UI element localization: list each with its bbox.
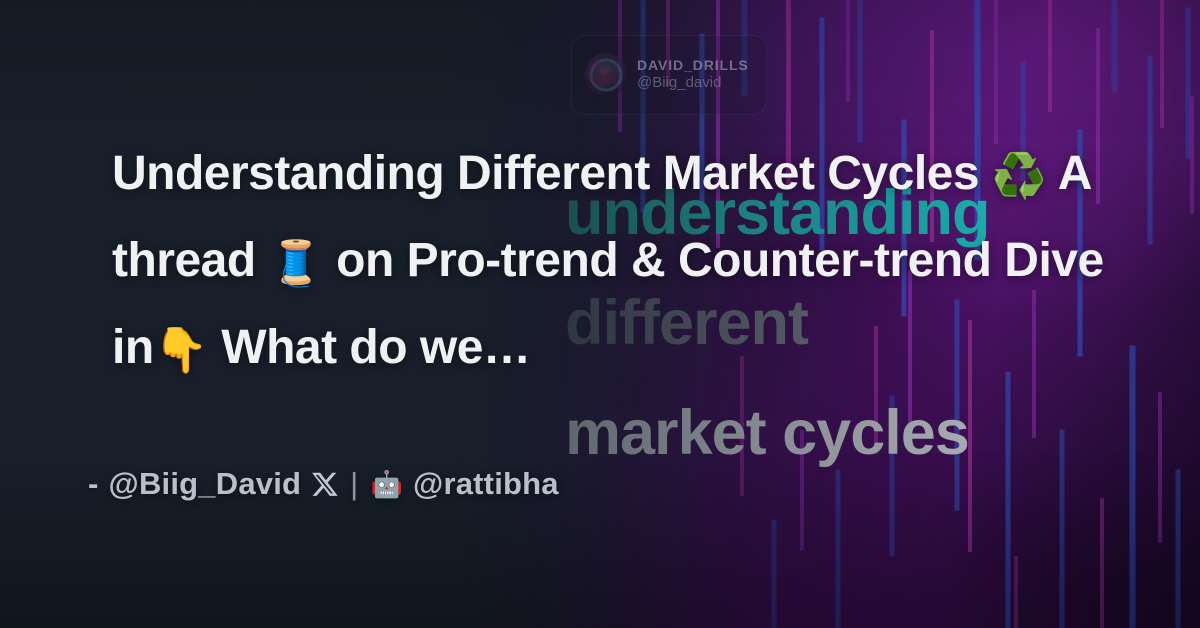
profile-chip-text: DAVID_DRILLS @Biig_david <box>637 58 749 91</box>
credit-service-handle[interactable]: @rattibha <box>413 466 559 502</box>
social-share-card: understanding different market cycles <box>0 0 1200 628</box>
avatar <box>584 53 628 97</box>
profile-handle: @Biig_david <box>637 75 749 92</box>
headline: Understanding Different Market Cycles ♻️… <box>112 132 1122 393</box>
headline-part-1: Understanding Different Market Cycles <box>112 147 992 200</box>
credit-author-handle[interactable]: @Biig_David <box>109 466 302 502</box>
credit-line: - @Biig_David | 🤖 @rattibha <box>88 466 559 502</box>
recycle-emoji: ♻️ <box>992 152 1047 201</box>
x-twitter-icon[interactable] <box>311 471 338 498</box>
profile-chip[interactable]: DAVID_DRILLS @Biig_david <box>571 35 767 115</box>
credit-separator: | <box>348 466 360 502</box>
robot-emoji: 🤖 <box>370 469 403 500</box>
thread-spool-emoji: 🧵 <box>269 239 324 288</box>
credit-prefix: - <box>88 466 99 502</box>
pointing-down-emoji: 👇 <box>154 326 209 375</box>
headline-part-4: What do we… <box>208 321 530 374</box>
profile-display-name: DAVID_DRILLS <box>637 58 749 74</box>
